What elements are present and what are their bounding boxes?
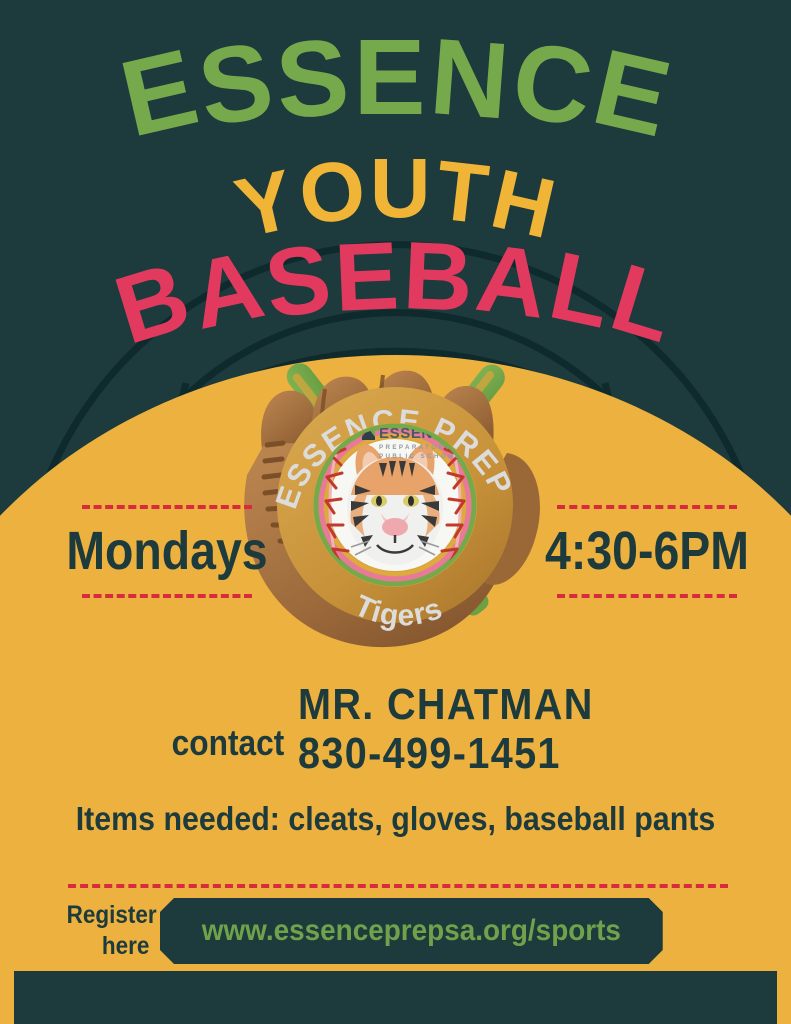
items-needed-text: Items needed: cleats, gloves, baseball p…	[32, 800, 760, 838]
glove-and-bats-emblem: ESSENCE PREP Tigers	[155, 325, 635, 675]
title-line-baseball: BASEBALL	[0, 222, 791, 332]
schedule-time-text: 4:30-6PM	[535, 523, 759, 580]
register-url-tag[interactable]: www.essenceprepsa.org/sports	[160, 898, 663, 964]
dashed-rule-bottom-right	[557, 594, 737, 598]
register-label-line1: Register	[67, 901, 157, 929]
dashed-rule-top-right	[557, 505, 737, 509]
dashed-rule-top-left	[82, 505, 252, 509]
flyer-poster: ESSENCE YOUTH BASEBALL	[0, 0, 791, 1024]
bottom-bar	[14, 971, 777, 1024]
register-url-text[interactable]: www.essenceprepsa.org/sports	[202, 914, 621, 948]
register-row: Register here www.essenceprepsa.org/spor…	[62, 898, 663, 964]
school-logo-sub2: PUBLIC SCHOOL	[379, 453, 461, 460]
headline-group: ESSENCE YOUTH BASEBALL	[0, 0, 791, 345]
contact-block: contact MR. CHATMAN 830-499-1451	[0, 680, 791, 779]
dashed-rule-bottom-left	[82, 594, 252, 598]
schedule-day-text: Mondays	[60, 523, 275, 580]
schedule-day-block: Mondays	[42, 505, 292, 598]
title-line-essence: ESSENCE	[0, 14, 791, 139]
register-label: Register here	[67, 900, 150, 963]
contact-name-text: MR. CHATMAN	[298, 680, 594, 729]
contact-details: MR. CHATMAN 830-499-1451	[298, 680, 627, 779]
register-label-line2: here	[67, 931, 150, 962]
contact-prefix-label: contact	[172, 722, 285, 764]
school-logo-sub1: PREPARATORY	[379, 444, 452, 451]
dashed-rule-register	[68, 884, 728, 888]
contact-phone-text[interactable]: 830-499-1451	[298, 729, 594, 778]
schedule-row: Mondays 4:30-6PM	[0, 505, 791, 595]
schedule-time-block: 4:30-6PM	[517, 505, 777, 598]
